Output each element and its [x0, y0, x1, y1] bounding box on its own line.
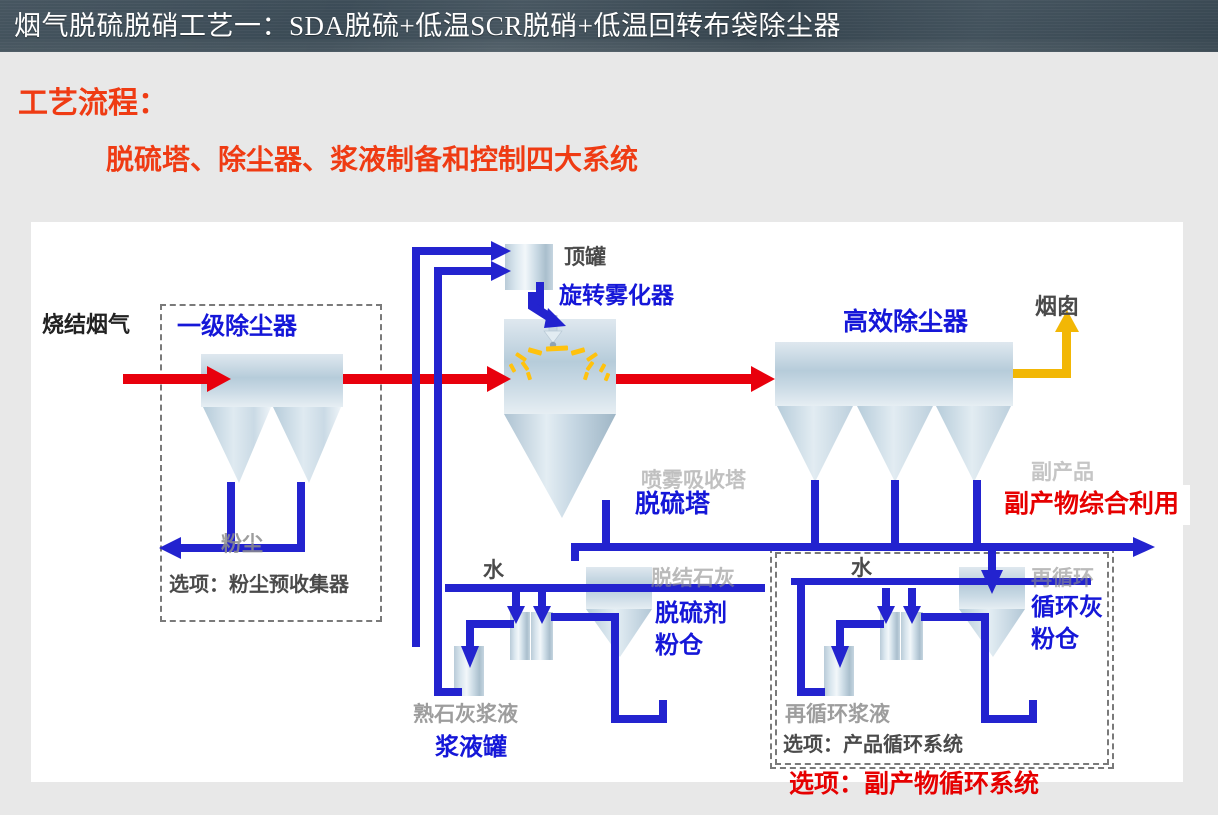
label-slaked-lime-slurry: 熟石灰浆液 — [413, 704, 518, 725]
desulfurization-tower-cone — [504, 414, 616, 520]
pipe-recycle-return-base — [797, 688, 825, 696]
label-recycled-slurry: 再循环浆液 — [785, 704, 890, 725]
top-tank-cylinder — [505, 244, 553, 290]
label-option-byproduct-recycle: 选项：副产物循环系统 — [789, 772, 1039, 797]
primary-dust-collector-hoppers — [201, 407, 343, 485]
label-byproduct-utilization: 副产物综合利用 — [1004, 492, 1179, 517]
flow-arrow-gas-inlet — [207, 366, 231, 392]
label-high-efficiency-dust-collector: 高效除尘器 — [843, 310, 968, 335]
label-desulfurization-tower: 脱硫塔 — [635, 492, 710, 517]
pipe-slurry-transfer-left — [458, 620, 518, 680]
label-rotary-atomizer: 旋转雾化器 — [559, 284, 674, 307]
label-spray-absorption-tower: 喷雾吸收塔 — [641, 470, 746, 491]
spray-pattern — [506, 342, 616, 387]
pipe-powderbin-out-left-top — [551, 613, 619, 621]
flow-line-gas-inlet — [123, 374, 213, 384]
flow-arrow-to-tower — [487, 366, 511, 392]
pipe-he-hopper-c — [973, 480, 981, 548]
pipe-he-hopper-a — [811, 480, 819, 548]
pipe-riser-outer — [412, 247, 420, 647]
label-water-left: 水 — [483, 560, 504, 581]
label-chimney: 烟囱 — [1035, 297, 1079, 319]
flow-arrow-to-top-tank-b — [491, 261, 511, 281]
label-recycle-faded: 再循环 — [1031, 568, 1094, 589]
label-dust: 粉尘 — [221, 534, 263, 555]
label-byproduct-faded: 副产品 — [1031, 462, 1094, 483]
pipe-recyclebin-out-vert — [981, 613, 989, 723]
flow-arrow-dust-outlet — [159, 537, 181, 559]
pipe-recyclebin-out-top — [921, 613, 989, 621]
page-title: 烟气脱硫脱硝工艺一：SDA脱硫+低温SCR脱硝+低温回转布袋除尘器 — [14, 4, 841, 43]
label-flue-gas-inlet: 烧结烟气 — [42, 314, 130, 336]
section-subheading-four-systems: 脱硫塔、除尘器、浆液制备和控制四大系统 — [106, 138, 638, 178]
label-primary-dust-collector: 一级除尘器 — [177, 315, 297, 339]
pipe-byproduct-utilization — [983, 543, 1141, 551]
pipe-lower-collection-bus — [571, 543, 983, 551]
flow-arrow-to-top-tank-a — [491, 241, 511, 261]
label-recycle-ash-bin-line2: 粉仓 — [1031, 628, 1079, 652]
title-bar: 烟气脱硫脱硝工艺一：SDA脱硫+低温SCR脱硝+低温回转布袋除尘器 — [0, 0, 1218, 52]
flow-arrow-byproduct-utilization — [1133, 537, 1155, 557]
label-recycle-ash-bin-line1: 循环灰 — [1031, 596, 1103, 620]
label-top-tank: 顶罐 — [564, 247, 606, 268]
high-efficiency-collector-body — [775, 342, 1013, 406]
pipe-he-hopper-b — [891, 480, 899, 548]
flow-line-tower-to-collector — [616, 374, 756, 384]
pipe-powderbin-out-left-vert — [611, 613, 619, 723]
label-water-right: 水 — [851, 558, 872, 579]
pipe-powderbin-out-left-end — [659, 700, 667, 723]
label-slurry-tank: 浆液罐 — [435, 736, 507, 760]
section-heading-process-flow: 工艺流程： — [18, 78, 168, 122]
pipe-primary-hopper-b — [297, 482, 305, 550]
pipe-lower-bus-left-drop — [571, 543, 579, 561]
flow-line-to-chimney-vertical — [1062, 330, 1071, 377]
pipe-recycle-return-riser — [797, 584, 805, 696]
label-quicklime-faded: 脱结石灰 — [651, 568, 735, 589]
label-option-product-recycle: 选项：产品循环系统 — [783, 734, 963, 754]
label-desulfurizer-powder-bin-line2: 粉仓 — [655, 634, 703, 658]
pipe-slurry-return-riser — [434, 434, 442, 696]
flow-arrow-to-collector — [751, 366, 775, 392]
pipe-recyclebin-out-end — [1029, 700, 1037, 723]
high-efficiency-collector-hoppers — [775, 406, 1013, 484]
pipe-slurry-return-base — [434, 688, 462, 696]
label-option-dust-precollector: 选项：粉尘预收集器 — [169, 574, 349, 594]
pipe-riser-inner-top — [434, 267, 497, 275]
pipe-riser-outer-top — [412, 247, 497, 255]
pipe-riser-inner — [434, 267, 442, 442]
label-desulfurizer-powder-bin-line1: 脱硫剂 — [655, 602, 727, 626]
pipe-recycle-transfer — [828, 620, 888, 680]
